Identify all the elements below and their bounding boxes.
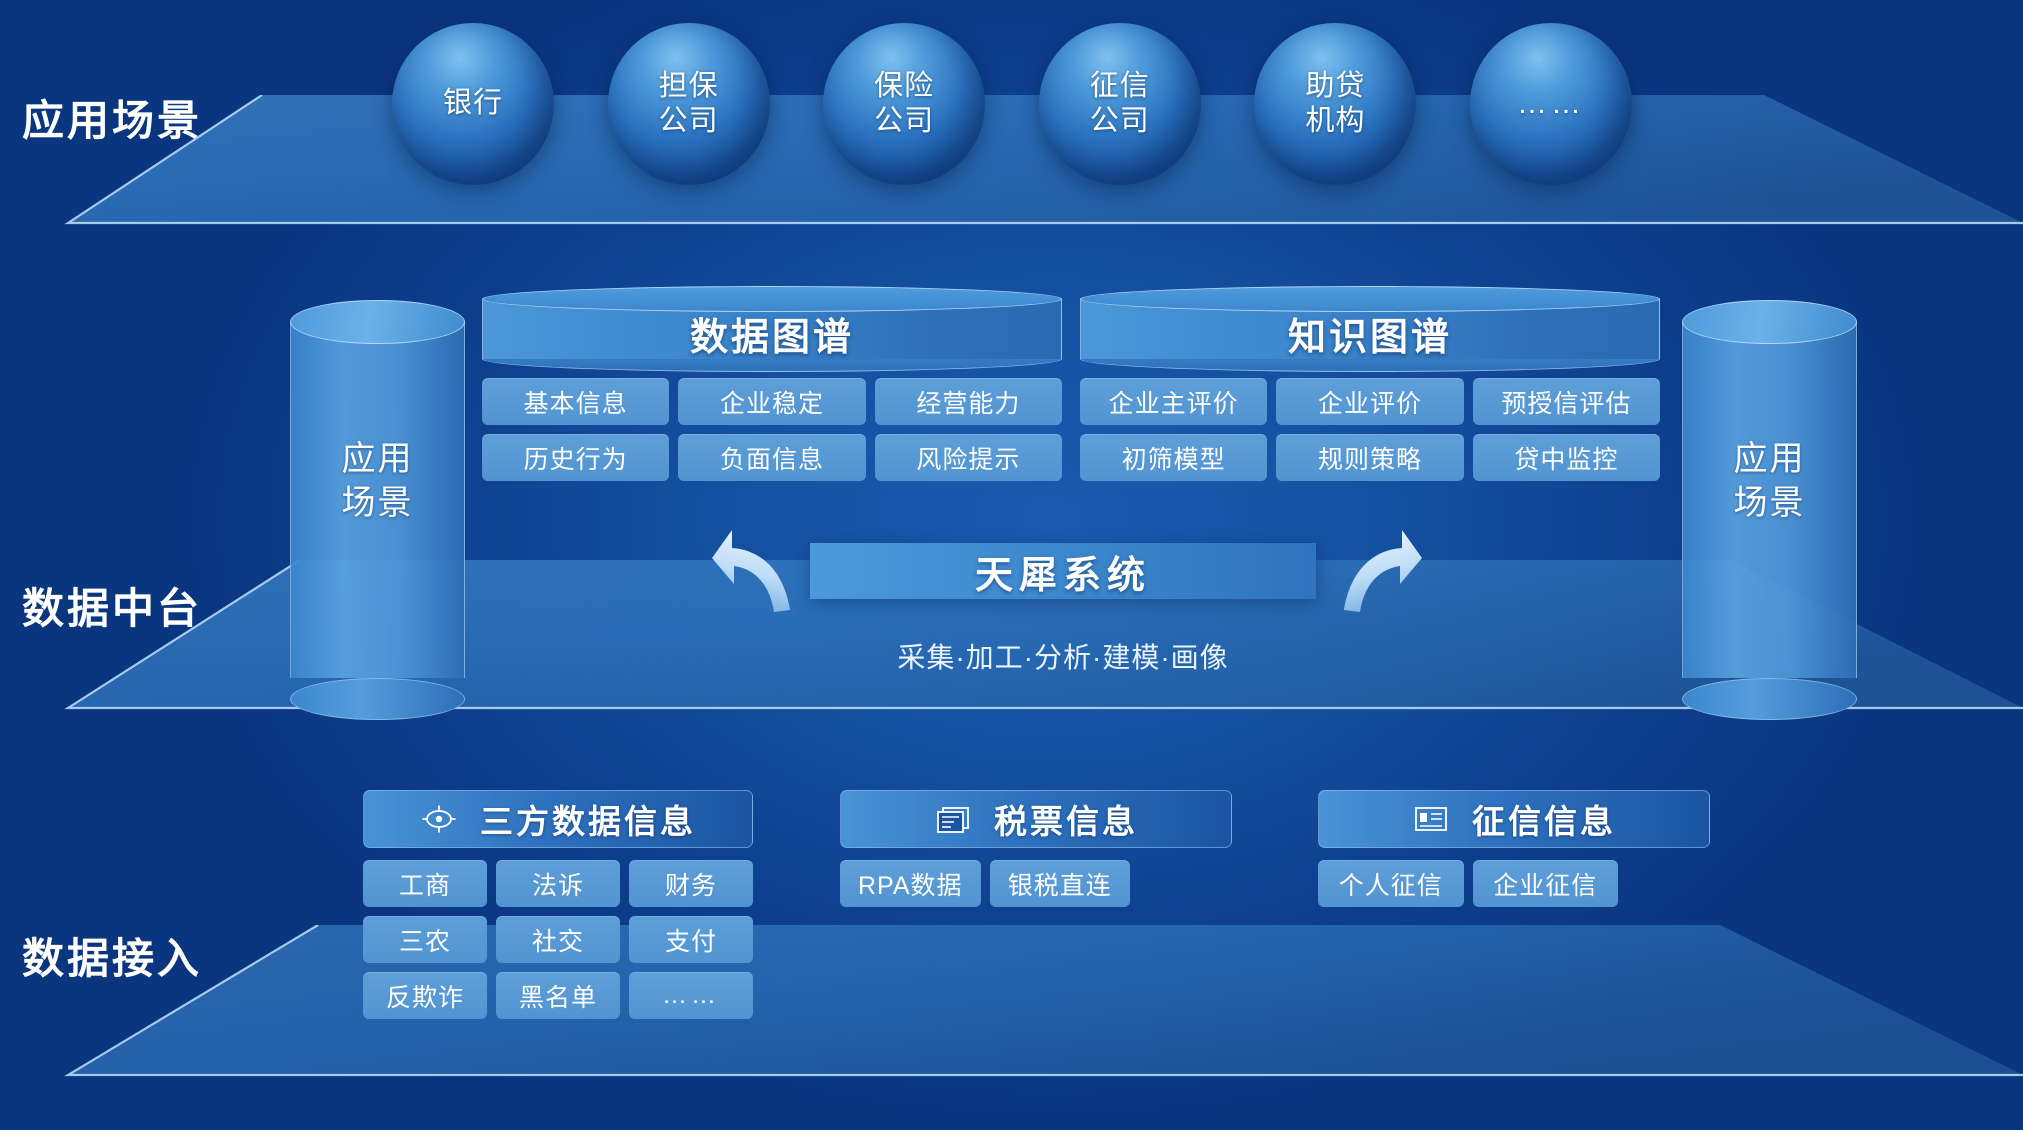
right-application-scenario-cylinder: 应用 场景: [1682, 300, 1857, 700]
data-graph-tag[interactable]: 风险提示: [875, 434, 1062, 481]
third-party-data-title: 三方数据信息: [480, 795, 696, 843]
third-party-data-tag[interactable]: 法诉: [496, 860, 620, 907]
tax-invoice-data-tag[interactable]: 银税直连: [990, 860, 1131, 907]
credit-report-data-tag[interactable]: 企业征信: [1473, 860, 1619, 907]
application-scenario-sphere-row: 银行 担保 公司 保险 公司 征信 公司 助贷 机构 ……: [392, 23, 1632, 185]
knowledge-graph-tag[interactable]: 规则策略: [1276, 434, 1463, 481]
core-system-subtitle: 采集·加工·分析·建模·画像: [810, 636, 1316, 676]
third-party-data-tag[interactable]: 黑名单: [496, 972, 620, 1019]
data-graph-tag[interactable]: 负面信息: [678, 434, 865, 481]
cylinder-label: 应用 场景: [1682, 438, 1857, 525]
knowledge-graph-panel: 知识图谱 企业主评价 企业评价 预授信评估 初筛模型 规则策略 贷中监控: [1080, 298, 1660, 481]
id-card-icon: [1412, 803, 1450, 835]
tax-invoice-data-tag[interactable]: RPA数据: [840, 860, 981, 907]
scenario-sphere-label: 担保 公司: [659, 69, 719, 140]
third-party-data-tag-more[interactable]: ……: [629, 972, 753, 1019]
knowledge-graph-tag[interactable]: 贷中监控: [1473, 434, 1660, 481]
data-graph-tag[interactable]: 企业稳定: [678, 378, 865, 425]
knowledge-graph-tag[interactable]: 预授信评估: [1473, 378, 1660, 425]
core-system-title: 天犀系统: [975, 544, 1151, 599]
data-graph-panel: 数据图谱 基本信息 企业稳定 经营能力 历史行为 负面信息 风险提示: [482, 298, 1062, 481]
knowledge-graph-tag-grid: 企业主评价 企业评价 预授信评估 初筛模型 规则策略 贷中监控: [1080, 378, 1660, 481]
cylinder-top-ellipse: [1682, 300, 1857, 344]
scenario-sphere-label: 银行: [443, 86, 503, 121]
data-graph-tag-grid: 基本信息 企业稳定 经营能力 历史行为 负面信息 风险提示: [482, 378, 1062, 481]
scenario-sphere-insurance-company[interactable]: 保险 公司: [823, 23, 985, 185]
core-system-banner[interactable]: 天犀系统: [810, 543, 1316, 599]
third-party-data-tag[interactable]: 财务: [629, 860, 753, 907]
knowledge-graph-cylinder: 知识图谱: [1080, 298, 1660, 364]
tax-invoice-data-header[interactable]: 税票信息: [840, 790, 1232, 848]
credit-report-data-tag-grid: 个人征信 企业征信: [1318, 860, 1618, 907]
tax-invoice-data-group: 税票信息 RPA数据 银税直连: [840, 790, 1232, 907]
scenario-sphere-label: ……: [1517, 86, 1585, 123]
credit-report-data-title: 征信信息: [1472, 795, 1616, 843]
scenario-sphere-label: 征信 公司: [1090, 69, 1150, 140]
cylinder-label: 应用 场景: [290, 438, 465, 525]
data-graph-title: 数据图谱: [482, 306, 1062, 361]
credit-report-data-tag[interactable]: 个人征信: [1318, 860, 1464, 907]
scenario-sphere-bank[interactable]: 银行: [392, 23, 554, 185]
third-party-data-tag[interactable]: 工商: [363, 860, 487, 907]
cylinder-bottom-ellipse: [290, 678, 465, 720]
tax-invoice-data-tag-grid: RPA数据 银税直连: [840, 860, 1130, 907]
third-party-data-tag-grid: 工商 法诉 财务 三农 社交 支付 反欺诈 黑名单 ……: [363, 860, 753, 1019]
knowledge-graph-tag[interactable]: 企业评价: [1276, 378, 1463, 425]
credit-report-data-header[interactable]: 征信信息: [1318, 790, 1710, 848]
third-party-data-tag[interactable]: 三农: [363, 916, 487, 963]
data-graph-tag[interactable]: 经营能力: [875, 378, 1062, 425]
third-party-data-header[interactable]: 三方数据信息: [363, 790, 753, 848]
scenario-sphere-loan-agency[interactable]: 助贷 机构: [1254, 23, 1416, 185]
data-access-layer-platform: [0, 925, 2023, 1085]
layer-label-data-access: 数据接入: [22, 925, 202, 986]
scenario-sphere-more[interactable]: ……: [1470, 23, 1632, 185]
knowledge-graph-tag[interactable]: 企业主评价: [1080, 378, 1267, 425]
architecture-diagram: 应用场景 数据中台 数据接入 银行 担保 公司 保险 公司 征信 公司 助贷 机…: [0, 0, 2023, 1130]
third-party-data-tag[interactable]: 社交: [496, 916, 620, 963]
credit-report-data-group: 征信信息 个人征信 企业征信: [1318, 790, 1710, 907]
tax-invoice-data-title: 税票信息: [994, 795, 1138, 843]
knowledge-graph-tag[interactable]: 初筛模型: [1080, 434, 1267, 481]
knowledge-graph-title: 知识图谱: [1080, 306, 1660, 361]
cylinder-bottom-ellipse: [1682, 678, 1857, 720]
scenario-sphere-label: 助贷 机构: [1305, 69, 1365, 140]
layer-label-application: 应用场景: [22, 87, 202, 148]
left-application-scenario-cylinder: 应用 场景: [290, 300, 465, 700]
scenario-sphere-guarantee-company[interactable]: 担保 公司: [608, 23, 770, 185]
data-graph-cylinder: 数据图谱: [482, 298, 1062, 364]
third-party-data-group: 三方数据信息 工商 法诉 财务 三农 社交 支付 反欺诈 黑名单 ……: [363, 790, 753, 1019]
curved-up-arrow-icon-right: [1328, 522, 1424, 619]
third-party-data-tag[interactable]: 反欺诈: [363, 972, 487, 1019]
scenario-sphere-credit-company[interactable]: 征信 公司: [1039, 23, 1201, 185]
target-crosshair-icon: [420, 803, 458, 835]
invoice-icon: [934, 803, 972, 835]
data-graph-tag[interactable]: 基本信息: [482, 378, 669, 425]
data-graph-tag[interactable]: 历史行为: [482, 434, 669, 481]
cylinder-top-ellipse: [290, 300, 465, 344]
scenario-sphere-label: 保险 公司: [874, 69, 934, 140]
curved-up-arrow-icon-left: [710, 522, 806, 619]
layer-label-data-platform: 数据中台: [22, 575, 202, 636]
third-party-data-tag[interactable]: 支付: [629, 916, 753, 963]
